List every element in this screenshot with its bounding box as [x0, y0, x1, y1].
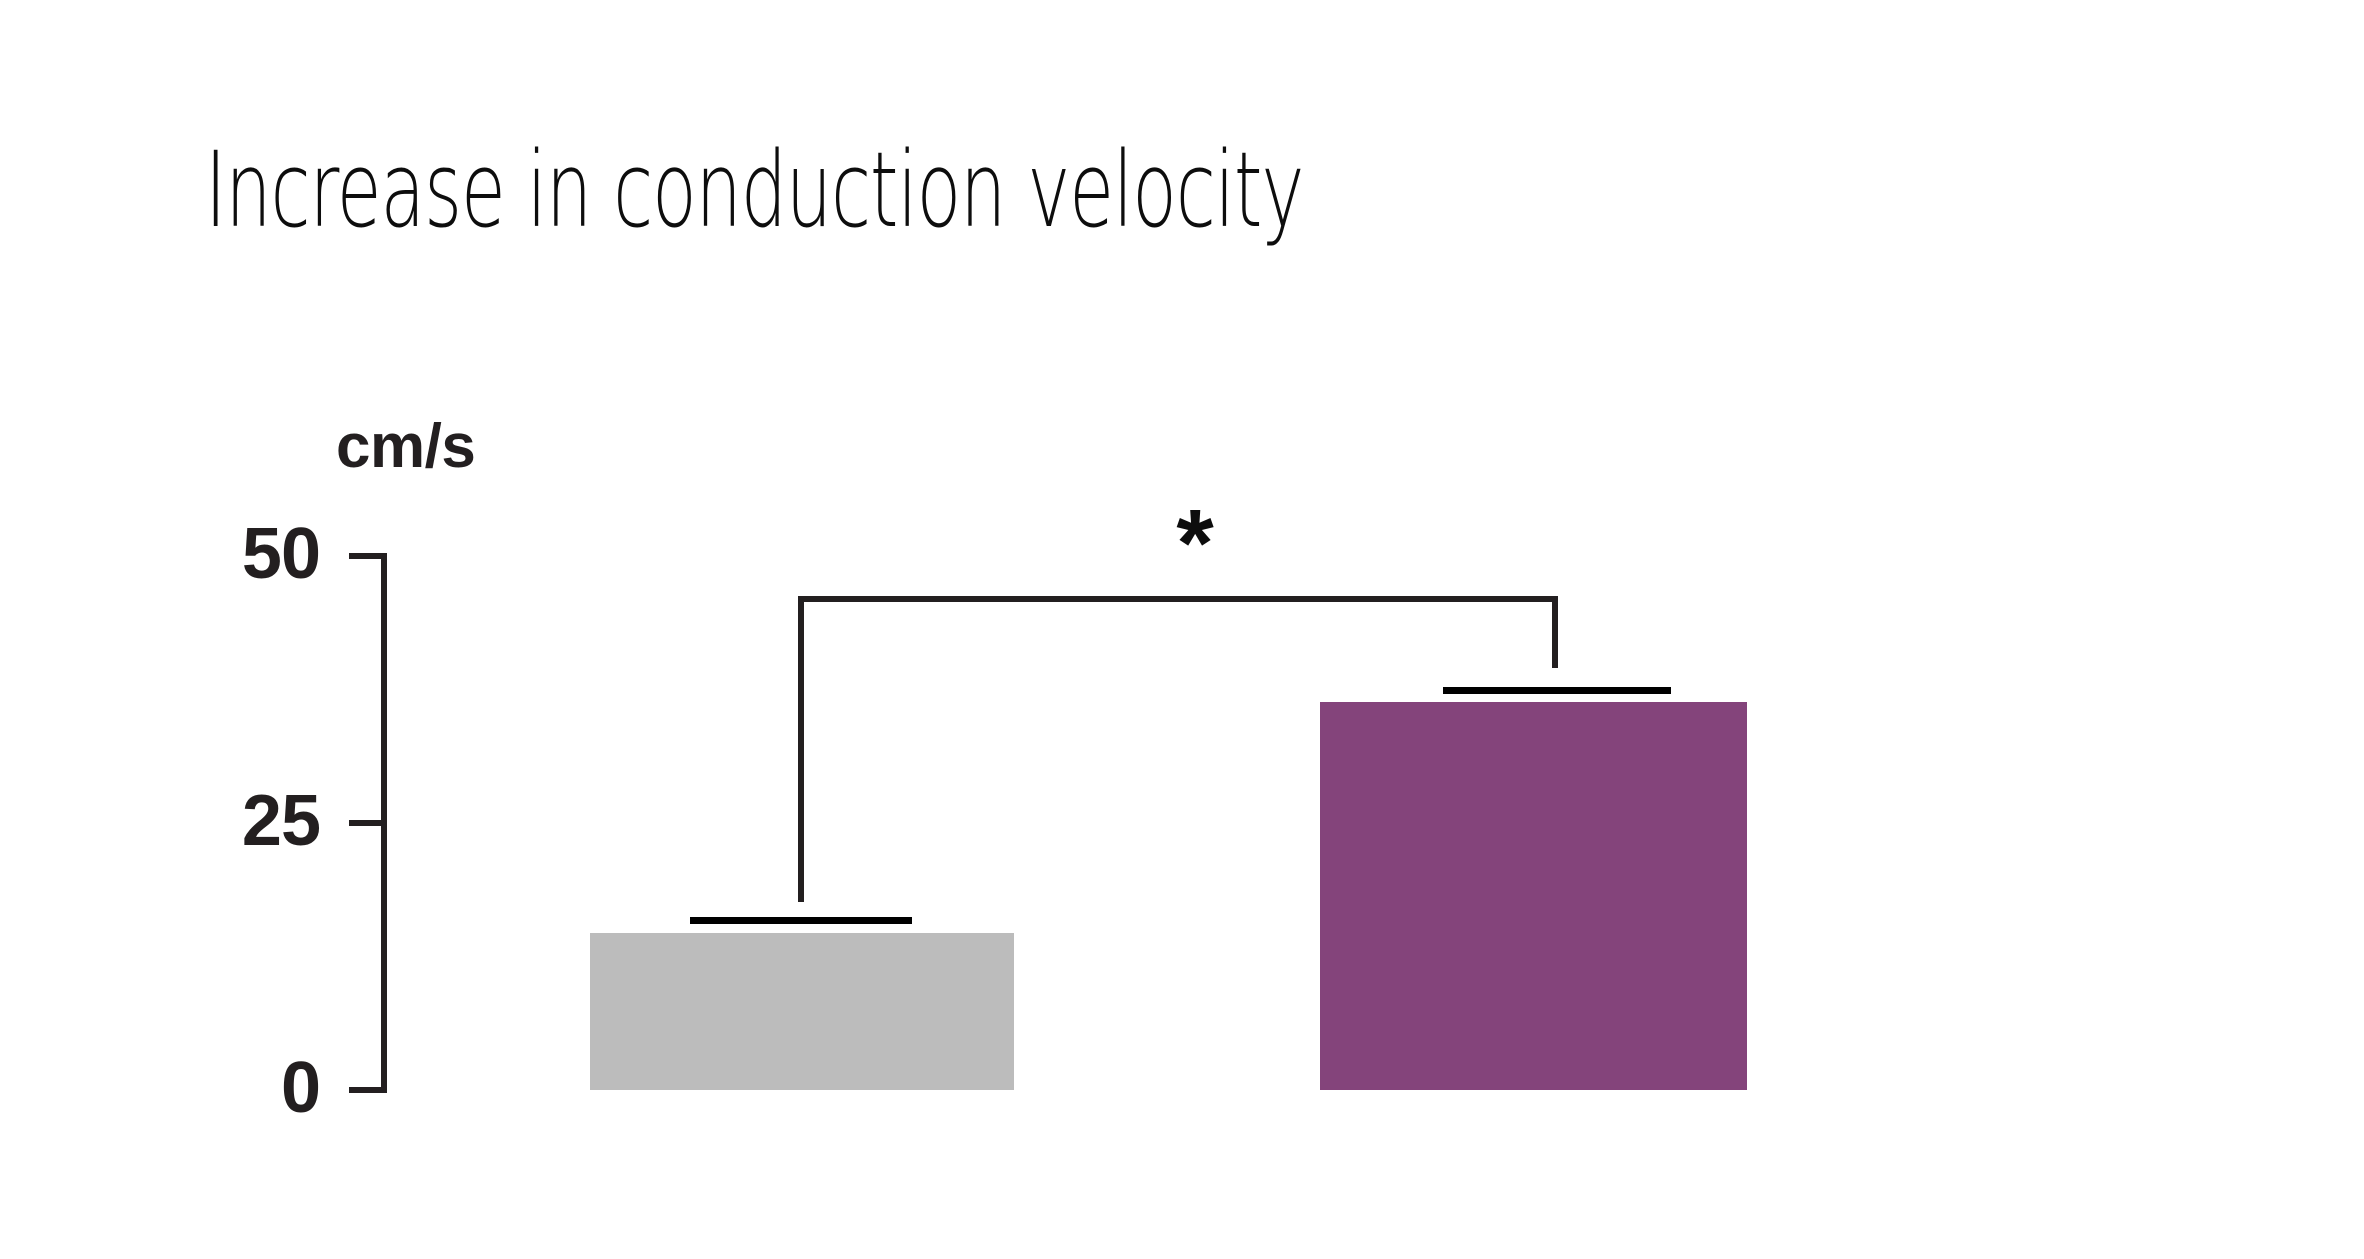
y-axis-tick-label-0: 0 — [120, 1052, 320, 1124]
significance-asterisk: * — [1120, 496, 1270, 592]
error-bar-control — [690, 917, 912, 924]
significance-bracket — [798, 596, 1558, 906]
y-axis-tick-25 — [349, 820, 387, 826]
significance-bracket-left-leg — [798, 596, 804, 902]
y-axis-tick-label-25: 25 — [120, 785, 320, 857]
y-axis-tick-50 — [349, 553, 387, 559]
chart-figure: Increase in conduction velocity cm/s 50 … — [0, 0, 2364, 1259]
y-axis-tick-label-50: 50 — [120, 518, 320, 590]
plot-area: 50 25 0 * — [0, 0, 2364, 1259]
significance-bracket-right-leg — [1552, 596, 1558, 668]
y-axis-tick-0 — [349, 1087, 387, 1093]
bar-control — [590, 933, 1014, 1090]
